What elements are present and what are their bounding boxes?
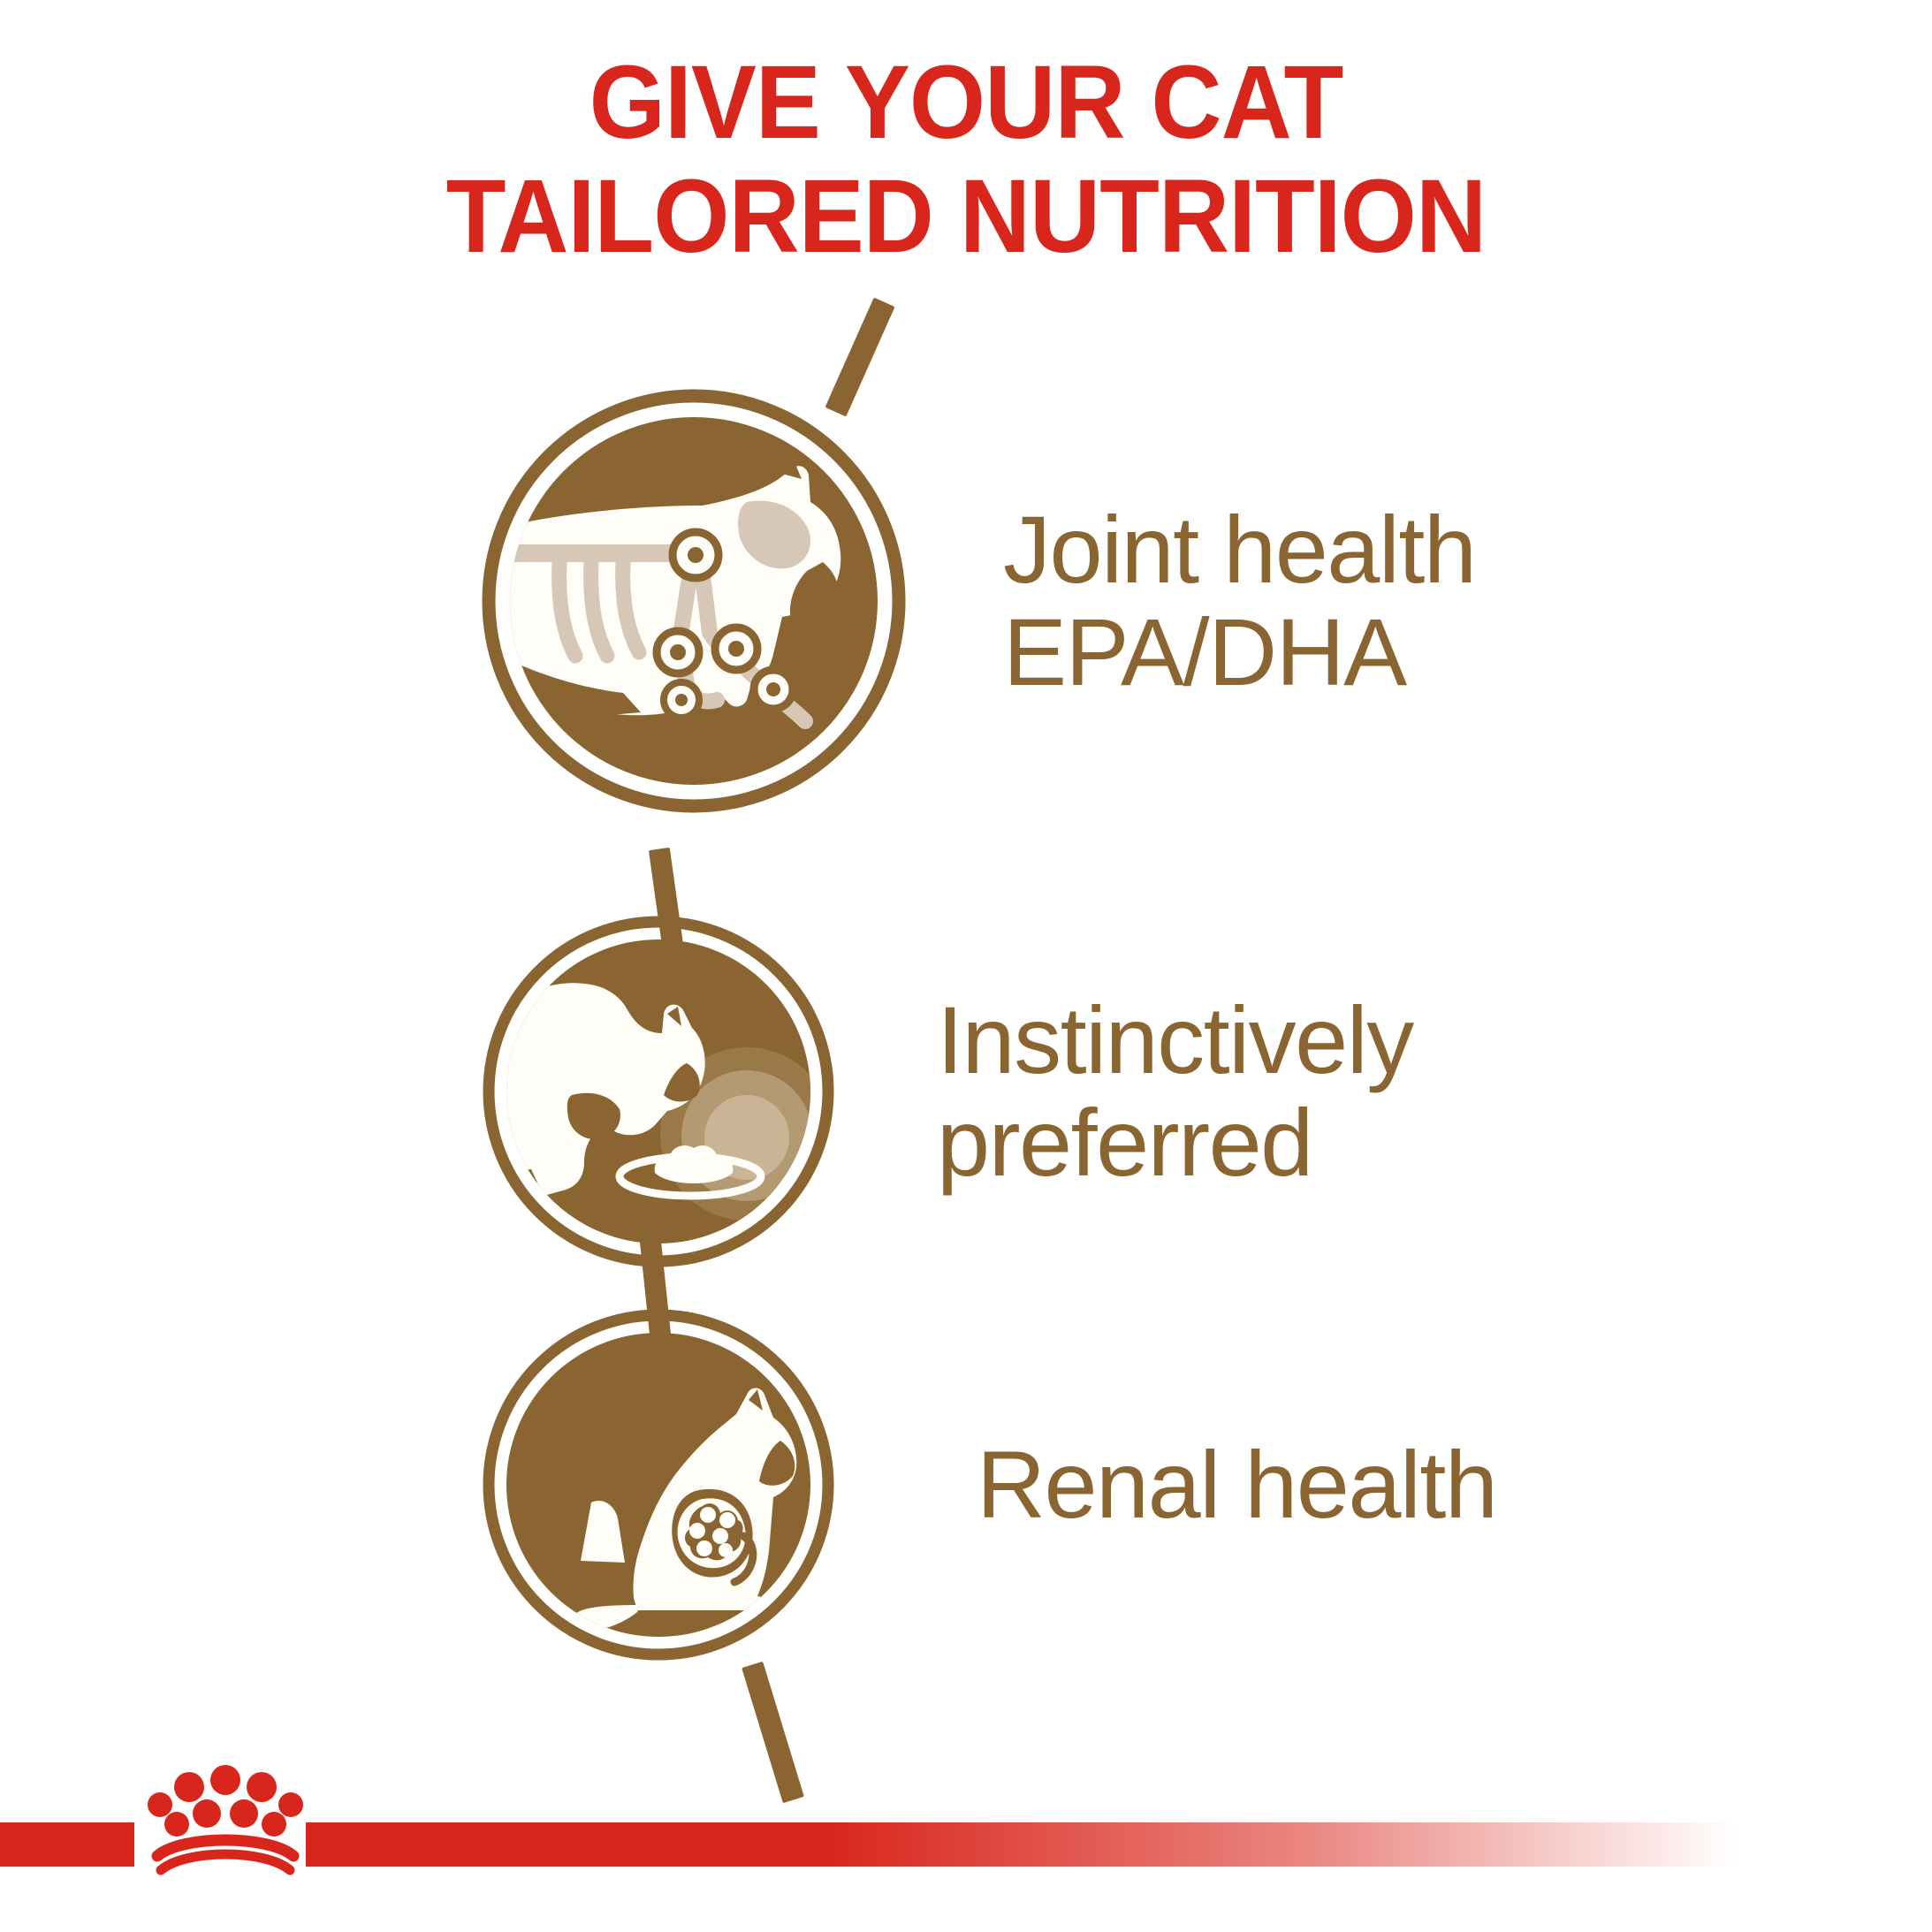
- joint-marker: [754, 670, 793, 709]
- benefit-row-joint-health: Joint health EPA/DHA: [482, 389, 1475, 813]
- page-title: GIVE YOUR CAT TAILORED NUTRITION: [58, 46, 1875, 273]
- royal-canin-crown-logo: [141, 1759, 309, 1891]
- footer-bar-right: [306, 1822, 1932, 1867]
- joint-marker: [715, 628, 757, 670]
- cat-eating-bowl-aroma-icon: [482, 915, 835, 1268]
- benefit-label-renal-health: Renal health: [977, 1434, 1496, 1536]
- joint-marker: [657, 631, 699, 673]
- benefit-row-renal-health: Renal health: [482, 1308, 1496, 1662]
- footer-bar-left: [0, 1822, 134, 1867]
- joint-marker: [664, 682, 699, 718]
- footer: [0, 1750, 1932, 1932]
- benefit-row-instinctively-preferred: Instinctively preferred: [482, 915, 1413, 1268]
- cat-skeleton-joints-icon: [482, 389, 906, 813]
- benefit-label-joint-health: Joint health EPA/DHA: [1003, 498, 1475, 703]
- benefit-label-instinctively-preferred: Instinctively preferred: [937, 989, 1413, 1193]
- poster-canvas: GIVE YOUR CAT TAILORED NUTRITION: [0, 0, 1932, 1932]
- joint-marker: [673, 532, 719, 578]
- cat-kidney-icon: [482, 1308, 835, 1662]
